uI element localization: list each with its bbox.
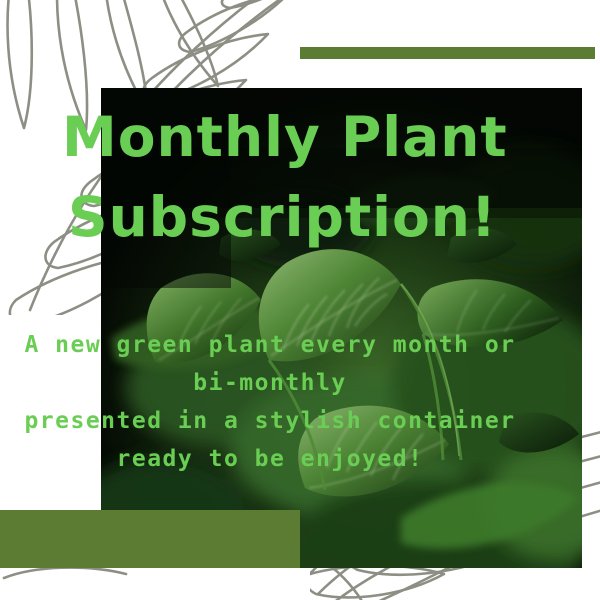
body-line-3: presented in a stylish container	[0, 402, 540, 440]
olive-bottom-block	[0, 510, 300, 568]
headline-line-2: Subscription!	[62, 177, 532, 257]
olive-top-bar	[300, 47, 595, 59]
body-line-1: A new green plant every month or	[0, 326, 540, 364]
body-line-2: bi-monthly	[0, 364, 540, 402]
body-copy: A new green plant every month or bi-mont…	[0, 326, 540, 478]
body-line-4: ready to be enjoyed!	[0, 440, 540, 478]
headline-line-1: Monthly Plant	[62, 97, 532, 177]
headline: Monthly Plant Subscription!	[62, 97, 532, 257]
poster-canvas: Monthly Plant Subscription! A new green …	[0, 0, 600, 600]
